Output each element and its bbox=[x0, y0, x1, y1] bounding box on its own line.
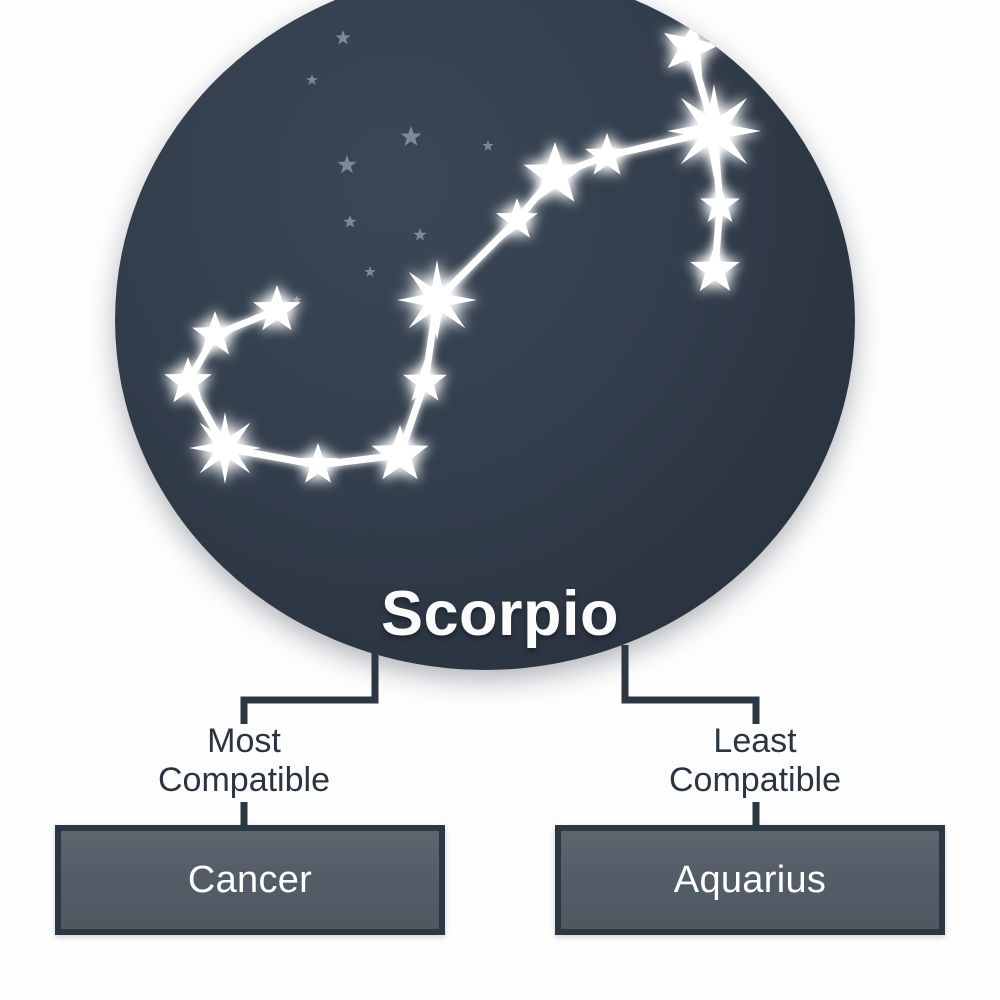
connector-right bbox=[625, 645, 756, 724]
zodiac-compatibility-infographic: Scorpio Most Compatible Least Compatible… bbox=[0, 0, 1000, 1000]
connector-left bbox=[244, 645, 375, 724]
least-compatible-line1: Least bbox=[585, 722, 925, 761]
most-compatible-line1: Most bbox=[74, 722, 414, 761]
most-compatible-line2: Compatible bbox=[74, 761, 414, 800]
least-compatible-line2: Compatible bbox=[585, 761, 925, 800]
most-compatible-label: Most Compatible bbox=[74, 722, 414, 800]
least-compatible-sign-label: Aquarius bbox=[674, 859, 826, 902]
most-compatible-sign-label: Cancer bbox=[188, 859, 312, 902]
most-compatible-sign-box[interactable]: Cancer bbox=[55, 825, 445, 935]
least-compatible-sign-box[interactable]: Aquarius bbox=[555, 825, 945, 935]
least-compatible-label: Least Compatible bbox=[585, 722, 925, 800]
